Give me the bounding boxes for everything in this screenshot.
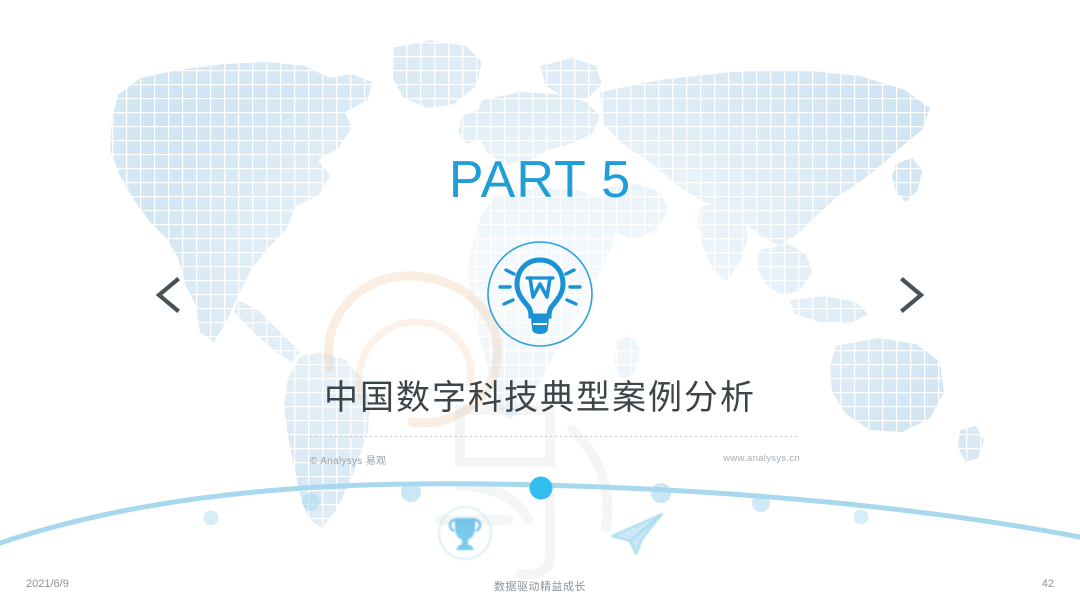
timeline-dot[interactable]: [302, 493, 320, 511]
timeline-dot[interactable]: [401, 482, 421, 502]
footer-tagline: 数据驱动精益成长: [0, 578, 1080, 594]
part-number-label: PART 5: [0, 150, 1080, 210]
lightbulb-icon: [486, 240, 594, 348]
timeline-dot[interactable]: [204, 511, 219, 526]
next-slide-arrow[interactable]: [883, 268, 937, 322]
timeline-dot[interactable]: [752, 494, 770, 512]
timeline-dot[interactable]: [651, 483, 671, 503]
timeline-dots: [204, 477, 869, 526]
page-title: 中国数字科技典型案例分析: [0, 370, 1080, 419]
footer-page-number: 42: [1042, 578, 1054, 590]
presentation-slide: PART 5: [0, 0, 1080, 608]
previous-slide-arrow[interactable]: [143, 268, 197, 322]
timeline-dot[interactable]: [854, 510, 869, 525]
dotted-divider: [310, 436, 800, 437]
timeline-dot-active[interactable]: [530, 477, 553, 500]
timeline-arc: [0, 455, 1080, 555]
